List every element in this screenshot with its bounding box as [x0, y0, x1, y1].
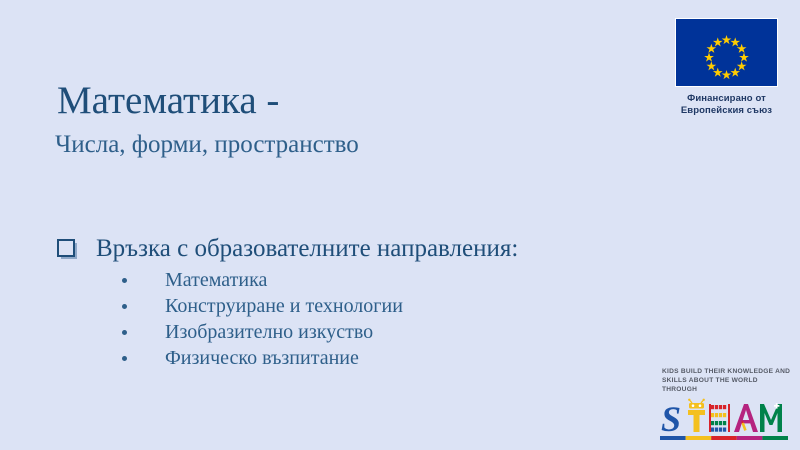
list-item-label: Физическо възпитание	[165, 345, 359, 371]
content-heading: Връзка с образователните направления:	[96, 234, 518, 264]
svg-text:S: S	[661, 399, 681, 439]
list-item-label: Математика	[165, 267, 267, 293]
content-body: Връзка с образователните направления: Ма…	[57, 234, 657, 371]
slide-canvas: Математика - Числа, форми, пространство …	[0, 0, 800, 450]
eu-caption-line-1: Финансирано от	[668, 93, 785, 105]
page-title: Математика -	[57, 78, 617, 123]
eu-funding-logo: Финансирано от Европейския съюз	[668, 18, 785, 117]
subject-list: Математика Конструиране и технологии Изо…	[57, 267, 657, 371]
list-item-label: Конструиране и технологии	[165, 293, 403, 319]
list-item: Конструиране и технологии	[57, 293, 657, 319]
list-item: Физическо възпитание	[57, 345, 657, 371]
page-subtitle: Числа, форми, пространство	[55, 129, 617, 161]
list-item-label: Изобразително изкуство	[165, 319, 373, 345]
steam-logo: KIDS BUILD THEIR KNOWLEDGE AND SKILLS AB…	[660, 367, 792, 442]
list-item: Изобразително изкуство	[57, 319, 657, 345]
list-item: Връзка с образователните направления:	[57, 234, 657, 264]
steam-caption-line-2: SKILLS ABOUT THE WORLD THROUGH	[662, 376, 792, 394]
eu-caption-line-2: Европейския съюз	[668, 105, 785, 117]
title-block: Математика - Числа, форми, пространство	[57, 78, 617, 161]
eu-caption: Финансирано от Европейския съюз	[668, 93, 785, 117]
list-item: Математика	[57, 267, 657, 293]
eu-flag-icon	[675, 18, 778, 87]
steam-caption: KIDS BUILD THEIR KNOWLEDGE AND SKILLS AB…	[662, 367, 792, 394]
steam-wordmark-icon: S	[660, 396, 788, 442]
steam-caption-line-1: KIDS BUILD THEIR KNOWLEDGE AND	[662, 367, 792, 376]
box-bullet-icon	[57, 239, 79, 261]
